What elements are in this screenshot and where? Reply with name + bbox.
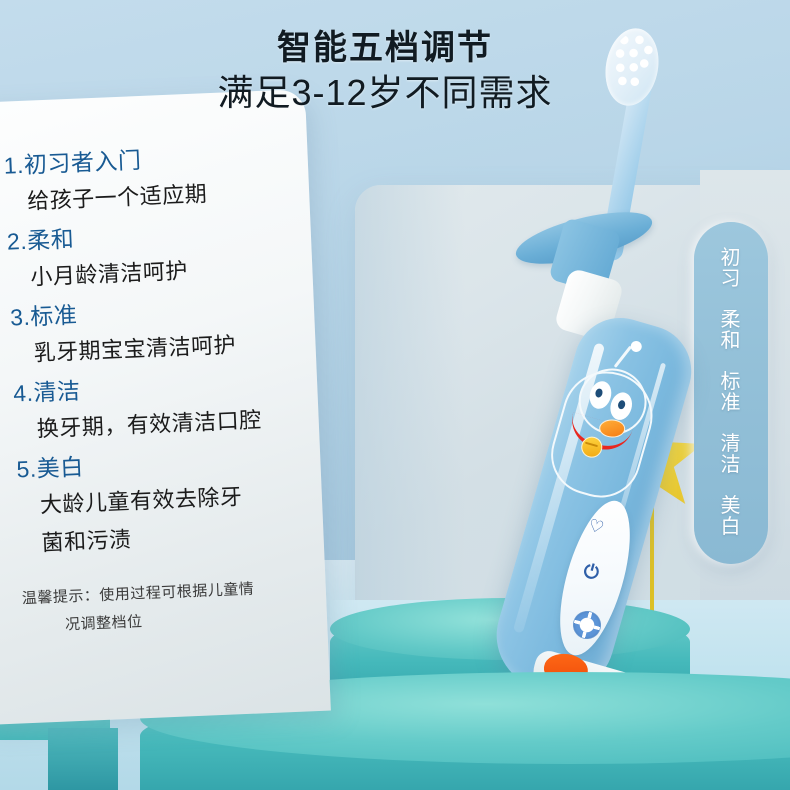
tip-note: 温馨提示：使用过程可根据儿童情 况调整档位 [21, 573, 311, 641]
headline-line-1: 智能五档调节 [150, 26, 620, 70]
headline: 智能五档调节 满足3-12岁不同需求 [150, 26, 620, 116]
product-infographic: 初习 柔和 标准 清洁 美白 [0, 0, 790, 790]
antenna-icon [614, 346, 632, 368]
mode-item-name: 美白 [36, 454, 84, 482]
mode-label-2: 柔和 [717, 310, 745, 352]
electric-toothbrush: ♡ ⏻ [318, 28, 698, 718]
list-item: 5.美白 大龄儿童有效去除牙 菌和污渍 [16, 439, 308, 563]
mode-item-number: 5. [16, 456, 37, 483]
tip-line-1: 温馨提示：使用过程可根据儿童情 [22, 581, 255, 608]
info-card-content: 1.初习者入门 给孩子一个适应期 2.柔和 小月龄清洁呵护 3.标准 乳牙期宝宝… [0, 89, 331, 725]
mode-item-number: 3. [10, 304, 31, 331]
list-item: 3.标准 乳牙期宝宝清洁呵护 [9, 288, 300, 374]
list-item: 2.柔和 小月龄清洁呵护 [6, 212, 297, 298]
podium-left-slab [48, 728, 118, 790]
mode-item-name: 初习者入门 [23, 147, 141, 178]
mode-item-name: 清洁 [33, 378, 81, 406]
mode-label-4: 清洁 [717, 434, 745, 476]
mode-label-panel: 初习 柔和 标准 清洁 美白 [694, 222, 768, 564]
tip-line-2: 况调整档位 [23, 601, 312, 641]
mode-label-3: 标准 [717, 372, 745, 414]
mode-item-name: 柔和 [27, 226, 75, 254]
mode-item-number: 2. [6, 228, 27, 255]
list-item: 1.初习者入门 给孩子一个适应期 [3, 136, 294, 222]
list-item: 4.清洁 换牙期，有效清洁口腔 [13, 363, 304, 449]
mode-label-1: 初习 [717, 248, 745, 290]
mode-list: 1.初习者入门 给孩子一个适应期 2.柔和 小月龄清洁呵护 3.标准 乳牙期宝宝… [3, 136, 308, 564]
mode-item-name: 标准 [30, 302, 78, 330]
headline-line-2: 满足3-12岁不同需求 [150, 70, 620, 116]
mode-label-5: 美白 [717, 496, 745, 538]
mode-item-number: 1. [3, 152, 24, 179]
mode-item-number: 4. [13, 380, 34, 407]
